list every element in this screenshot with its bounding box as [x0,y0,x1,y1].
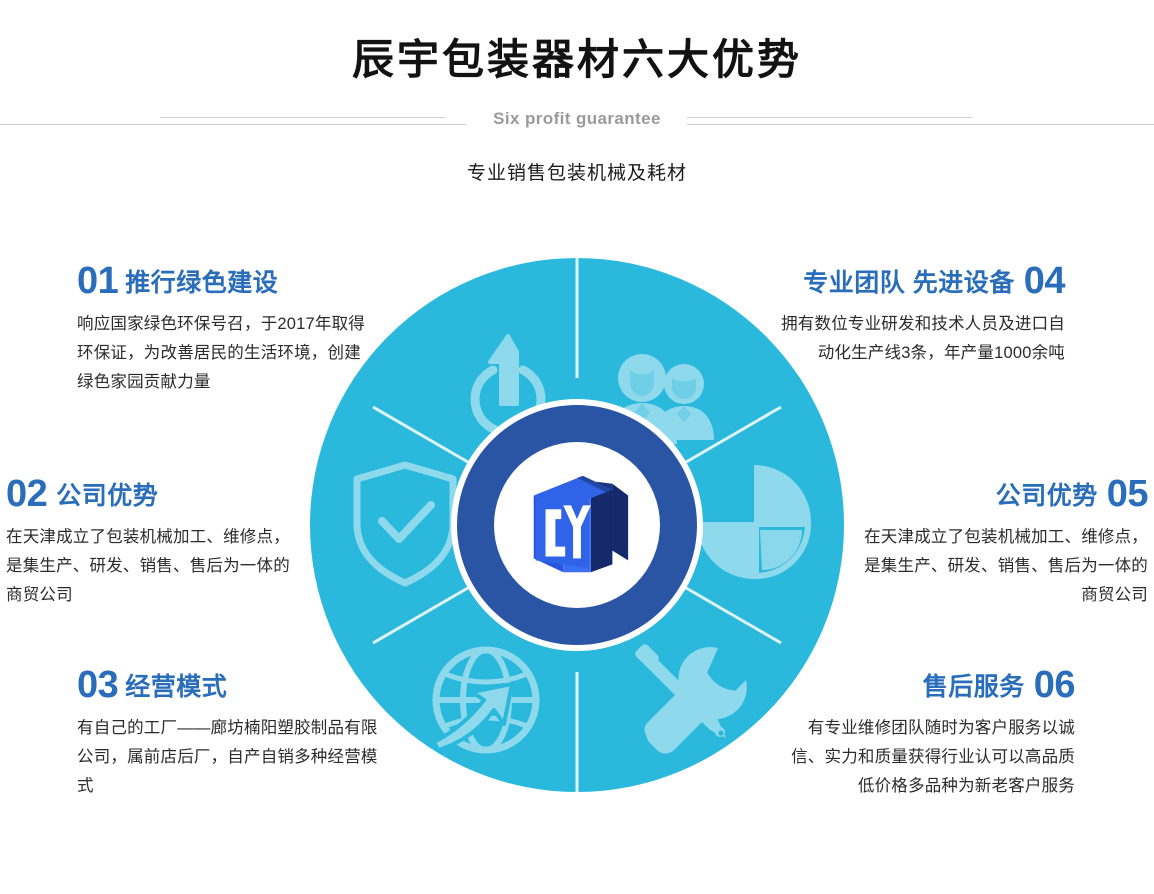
advantage-heading-03: 03经营模式 [77,668,379,704]
six-advantage-wheel [310,258,844,792]
advantage-block-04: 专业团队 先进设备04 拥有数位专业研发和技术人员及进口自动化生产线3条，年产量… [775,264,1065,368]
page-header: 辰宇包装器材六大优势 Six profit guarantee 专业销售包装机械… [0,0,1154,210]
advantage-number-06: 06 [1034,664,1075,706]
advantage-label-02: 公司优势 [56,482,158,510]
page-title: 辰宇包装器材六大优势 [0,34,1154,86]
advantage-heading-06: 售后服务06 [775,668,1075,704]
advantage-block-05: 公司优势05 在天津成立了包装机械加工、维修点，是集生产、研发、销售、售后为一体… [855,477,1148,610]
advantage-label-04: 专业团队 先进设备 [803,269,1014,297]
advantage-number-03: 03 [77,664,118,706]
advantage-heading-02: 02公司优势 [6,477,298,513]
subtitle-chinese: 专业销售包装机械及耗材 [0,158,1154,185]
advantage-heading-05: 公司优势05 [855,477,1148,513]
center-hub-inner [494,442,660,608]
advantage-number-02: 02 [6,473,47,515]
advantage-body-04: 拥有数位专业研发和技术人员及进口自动化生产线3条，年产量1000余吨 [775,310,1065,368]
advantage-number-04: 04 [1024,260,1065,302]
advantage-body-02: 在天津成立了包装机械加工、维修点，是集生产、研发、销售、售后为一体的商贸公司 [6,523,298,610]
advantage-label-03: 经营模式 [125,673,227,701]
advantage-block-03: 03经营模式 有自己的工厂——廊坊楠阳塑胶制品有限公司，属前店后厂，自产自销多种… [77,668,379,801]
advantage-block-06: 售后服务06 有专业维修团队随时为客户服务以诚信、实力和质量获得行业认可以高品质… [775,668,1075,801]
advantage-label-01: 推行绿色建设 [125,269,278,297]
advantage-block-01: 01推行绿色建设 响应国家绿色环保号召，于2017年取得环保证，为改善居民的生活… [77,264,377,397]
advantage-body-03: 有自己的工厂——廊坊楠阳塑胶制品有限公司，属前店后厂，自产自销多种经营模式 [77,714,379,801]
advantage-label-06: 售后服务 [923,673,1025,701]
subtitle-english: Six profit guarantee [467,109,687,128]
advantage-number-01: 01 [77,260,118,302]
advantage-label-05: 公司优势 [996,482,1098,510]
advantage-body-06: 有专业维修团队随时为客户服务以诚信、实力和质量获得行业认可以高品质低价格多品种为… [775,714,1075,801]
subtitle-english-wrap: Six profit guarantee [0,109,1154,129]
advantage-heading-01: 01推行绿色建设 [77,264,377,300]
advantage-body-05: 在天津成立了包装机械加工、维修点，是集生产、研发、销售、售后为一体的商贸公司 [855,523,1148,610]
package-box-logo [518,466,636,584]
advantage-heading-04: 专业团队 先进设备04 [775,264,1065,300]
advantage-body-01: 响应国家绿色环保号召，于2017年取得环保证，为改善居民的生活环境，创建绿色家园… [77,310,377,397]
advantage-number-05: 05 [1107,473,1148,515]
center-hub [457,405,697,645]
advantage-block-02: 02公司优势 在天津成立了包装机械加工、维修点，是集生产、研发、销售、售后为一体… [6,477,298,610]
